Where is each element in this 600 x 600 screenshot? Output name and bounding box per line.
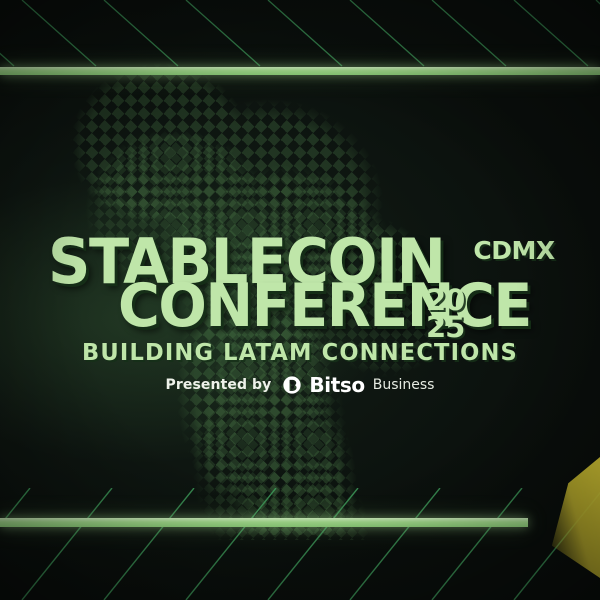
title-block: STABLECOIN CDMX CONFERENCE bbox=[48, 232, 553, 336]
city-label-cdmx: CDMX bbox=[473, 238, 554, 263]
presented-by-label: Presented by bbox=[166, 377, 272, 393]
brand-name-bitso: Bitso bbox=[309, 373, 364, 397]
bitso-brand-lockup[interactable]: Bitso Business bbox=[282, 373, 434, 397]
presented-by-row: Presented by Bitso Business bbox=[0, 373, 600, 397]
title-line-conference: CONFERENCE bbox=[118, 277, 531, 336]
brand-suffix-business: Business bbox=[373, 377, 435, 393]
city-stack: CDMX bbox=[473, 238, 554, 263]
tagline: BUILDING LATAM CONNECTIONS bbox=[6, 340, 594, 366]
conference-poster: STABLECOIN CDMX CONFERENCE 20 25 BUILDIN… bbox=[0, 0, 600, 600]
bitso-b-mark-icon bbox=[282, 375, 302, 395]
title-row-2: CONFERENCE bbox=[48, 277, 553, 336]
poster-content: STABLECOIN CDMX CONFERENCE 20 25 BUILDIN… bbox=[0, 0, 600, 600]
year-stack: 20 25 bbox=[426, 287, 464, 341]
year-bottom-25: 25 bbox=[426, 314, 464, 341]
